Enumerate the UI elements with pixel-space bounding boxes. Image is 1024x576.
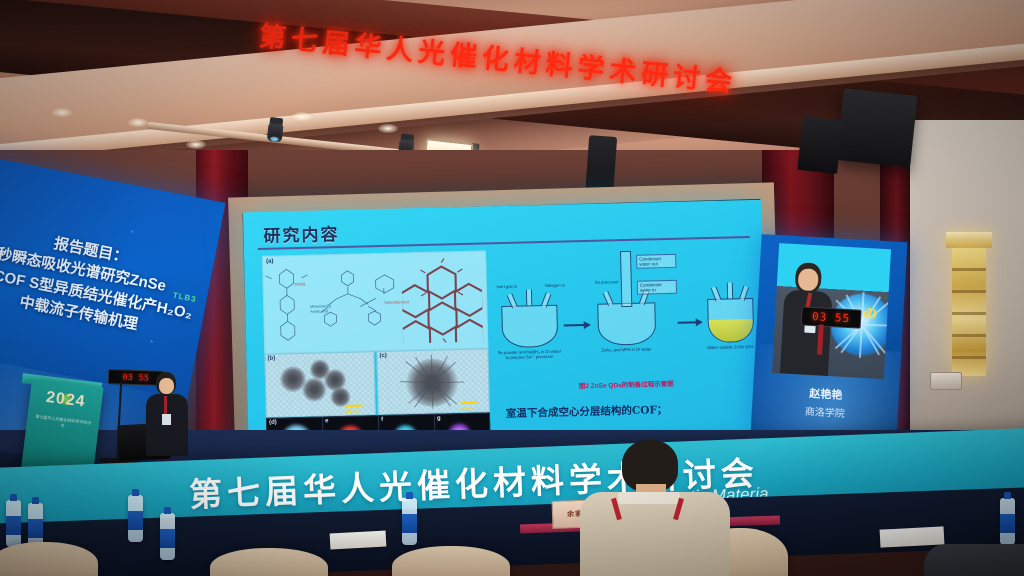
panel-label-e: e <box>325 418 328 424</box>
water-bottle <box>128 495 143 542</box>
scheme-label-nitrogen: Nitrogen in <box>539 282 571 288</box>
podium-year: 2024 <box>29 387 103 414</box>
countdown-timer-display: 03 55 <box>801 306 862 328</box>
scheme-label-se-precursor: Se precursor <box>591 279 623 285</box>
scale-bar-label: 50 nm <box>461 406 473 411</box>
scale-bar-label: 500 nm <box>345 409 359 414</box>
stage-countdown-value: 03 55 <box>123 373 150 383</box>
svg-text:TFPB: TFPB <box>294 282 306 287</box>
paper-sheet <box>330 531 387 550</box>
scheme-label-inert-gas: Inert gas in <box>489 284 525 290</box>
nanoflower-spikes <box>377 349 488 414</box>
line-array-speaker <box>797 116 842 174</box>
water-bottle <box>160 513 175 560</box>
downlight <box>128 118 148 127</box>
svg-text:Acetic acid: Acetic acid <box>310 309 327 313</box>
countdown-timer-value: 03 55 <box>812 310 851 325</box>
slide-panel-b-tem: (b) 500 nm <box>264 351 376 418</box>
scheme-note-water-in: Condenser water in <box>637 280 677 295</box>
panel-label-b: (b) <box>267 356 275 362</box>
sconce-top <box>946 232 992 248</box>
presenter-face <box>159 378 174 394</box>
paper-sheet <box>880 526 945 547</box>
panel-label-f: f <box>381 417 383 423</box>
water-bottle <box>1000 498 1015 545</box>
panel-label-d: (d) <box>269 420 277 426</box>
panel-label-d-overlay: d) <box>863 306 878 321</box>
scheme-caption-2: ZnAc₂ and MPA in DI water <box>594 346 658 353</box>
scheme-arrow-1 <box>564 324 590 327</box>
downlight <box>52 108 72 117</box>
water-bottle <box>402 498 417 545</box>
presenter-lanyard <box>164 396 167 414</box>
scheme-caption-1: Se powder and NaBH₄ in DI water to prepa… <box>496 349 562 362</box>
panel-label-g: g <box>437 416 441 422</box>
screenshot-root: 第七届华人光催化材料学术研讨会 <box>0 0 1024 576</box>
slide-panel-a: (a) TFPB Melamine/Tp, A <box>262 250 488 353</box>
live-camera-feed: 03 55 d) <box>772 243 891 379</box>
scheme-caption-3: Water-soluble ZnSe QDs <box>704 344 756 350</box>
moving-head-light <box>266 117 284 144</box>
wall-outlet-plate <box>930 372 962 390</box>
presenter-badge <box>162 414 171 425</box>
slide-title: 研究内容 <box>263 220 340 247</box>
right-led-screen: 03 55 d) 赵艳艳 商洛学院 <box>751 234 908 442</box>
podium-subtitle: 第七届华人光催化材料学术研讨会 <box>31 414 91 461</box>
slide-panel-c-tem: (c) 50 nm <box>376 348 490 415</box>
person-body <box>580 492 730 576</box>
conclusion-line-1: 室温下合成空心分层结构的COF； <box>506 402 668 421</box>
water-bottle <box>6 500 21 547</box>
scheme-arrow-2 <box>678 321 702 324</box>
presenter-body <box>146 394 188 456</box>
person-body <box>924 544 1024 576</box>
znse-synthesis-scheme: Inert gas in Nitrogen in Se powder and N… <box>494 248 755 384</box>
line-array-speaker <box>836 88 917 167</box>
cof-framework-graphic <box>401 258 483 344</box>
scheme-note-water-out: Condenser water out <box>636 254 676 269</box>
person-collar <box>618 492 680 504</box>
crystal-wall-sconce <box>952 248 986 376</box>
svg-text:Melamine/Tp,: Melamine/Tp, <box>310 304 332 309</box>
